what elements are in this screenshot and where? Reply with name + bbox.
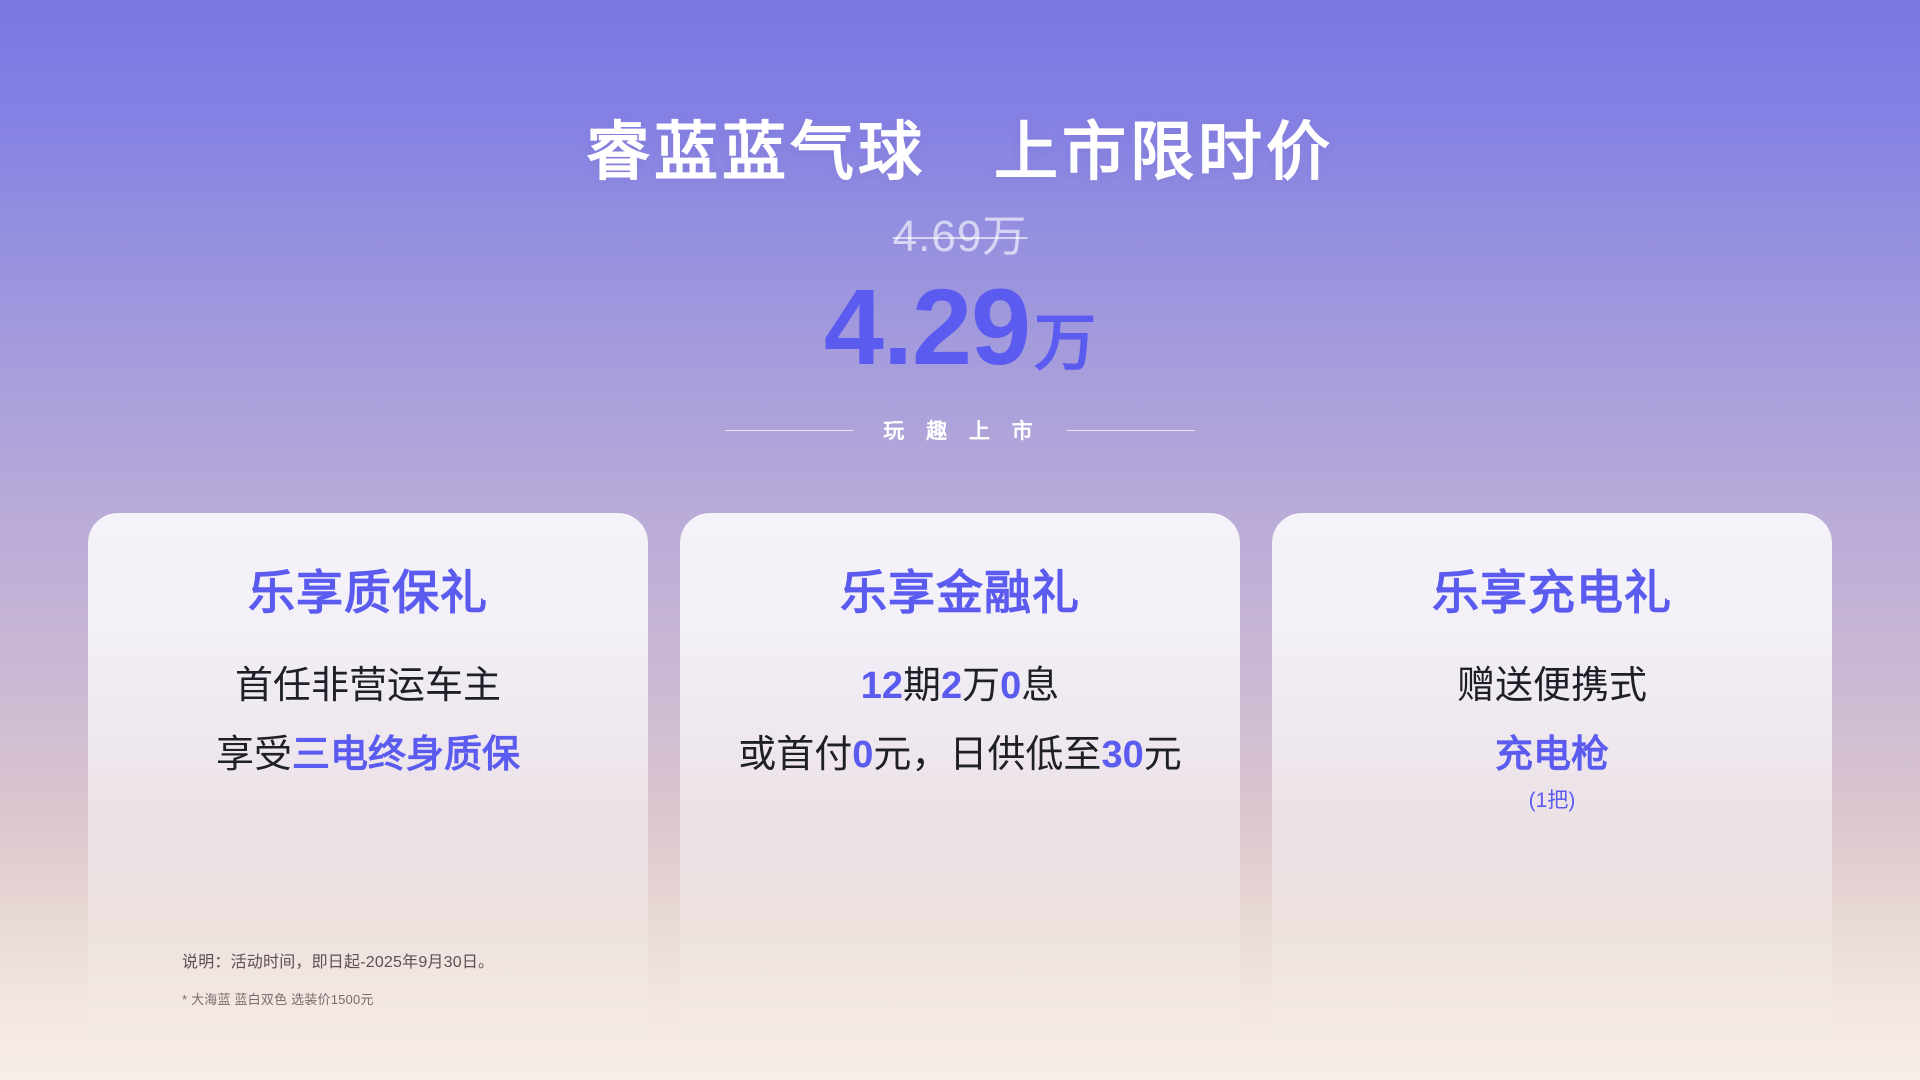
page-title: 睿蓝蓝气球 上市限时价 <box>0 0 1920 187</box>
divider-line-left <box>725 430 853 431</box>
finance-daily-unit: 元 <box>1144 734 1182 776</box>
card-title-finance: 乐享金融礼 <box>680 513 1240 619</box>
card-charging-line-2: 充电枪 <box>1272 708 1832 778</box>
finance-interest: 0 <box>1000 665 1021 707</box>
finance-downpay-label: 或首付 <box>738 734 852 776</box>
card-warranty-line-2-highlight: 三电终身质保 <box>292 734 520 776</box>
current-price-unit: 万 <box>1034 313 1096 375</box>
finance-term-unit: 期 <box>903 665 941 707</box>
divider-line-right <box>1067 430 1195 431</box>
footnotes: 说明：活动时间，即日起-2025年9月30日。 * 大海蓝 蓝白双色 选装价15… <box>182 953 494 1009</box>
card-title-charging: 乐享充电礼 <box>1272 513 1832 619</box>
offer-card-charging: 乐享充电礼 赠送便携式 充电枪 (1把) <box>1272 513 1832 1080</box>
offer-card-finance: 乐享金融礼 12期2万0息 或首付0元，日供低至30元 <box>680 513 1240 1080</box>
card-charging-quantity: (1把) <box>1272 778 1832 813</box>
card-charging-highlight: 充电枪 <box>1495 734 1609 776</box>
tagline-divider: 玩 趣 上 市 <box>0 381 1920 445</box>
current-price: 4.29 万 <box>0 259 1920 381</box>
card-finance-line-2: 或首付0元，日供低至30元 <box>680 708 1240 778</box>
card-warranty-line-2-prefix: 享受 <box>216 734 292 776</box>
card-title-warranty: 乐享质保礼 <box>88 513 648 619</box>
card-warranty-line-1: 首任非营运车主 <box>88 619 648 709</box>
footnote-campaign-period: 说明：活动时间，即日起-2025年9月30日。 <box>182 953 494 974</box>
current-price-number: 4.29 <box>824 273 1030 381</box>
footnote-color-option: * 大海蓝 蓝白双色 选装价1500元 <box>182 974 494 1009</box>
card-warranty-line-2: 享受三电终身质保 <box>88 708 648 778</box>
card-charging-line-1: 赠送便携式 <box>1272 619 1832 709</box>
promo-poster: 睿蓝蓝气球 上市限时价 4.69万 4.29 万 玩 趣 上 市 乐享质保礼 首… <box>0 0 1920 1080</box>
tagline-text: 玩 趣 上 市 <box>879 415 1041 445</box>
finance-interest-unit: 息 <box>1021 665 1059 707</box>
finance-amount: 2 <box>941 665 962 707</box>
header-section: 睿蓝蓝气球 上市限时价 4.69万 4.29 万 玩 趣 上 市 <box>0 0 1920 445</box>
finance-daily-label: 元，日供低至 <box>873 734 1101 776</box>
finance-amount-unit: 万 <box>962 665 1000 707</box>
finance-downpay-value: 0 <box>852 734 873 776</box>
original-price: 4.69万 <box>0 187 1920 259</box>
card-finance-line-1: 12期2万0息 <box>680 619 1240 709</box>
finance-daily-value: 30 <box>1101 734 1143 776</box>
finance-term-count: 12 <box>861 665 903 707</box>
